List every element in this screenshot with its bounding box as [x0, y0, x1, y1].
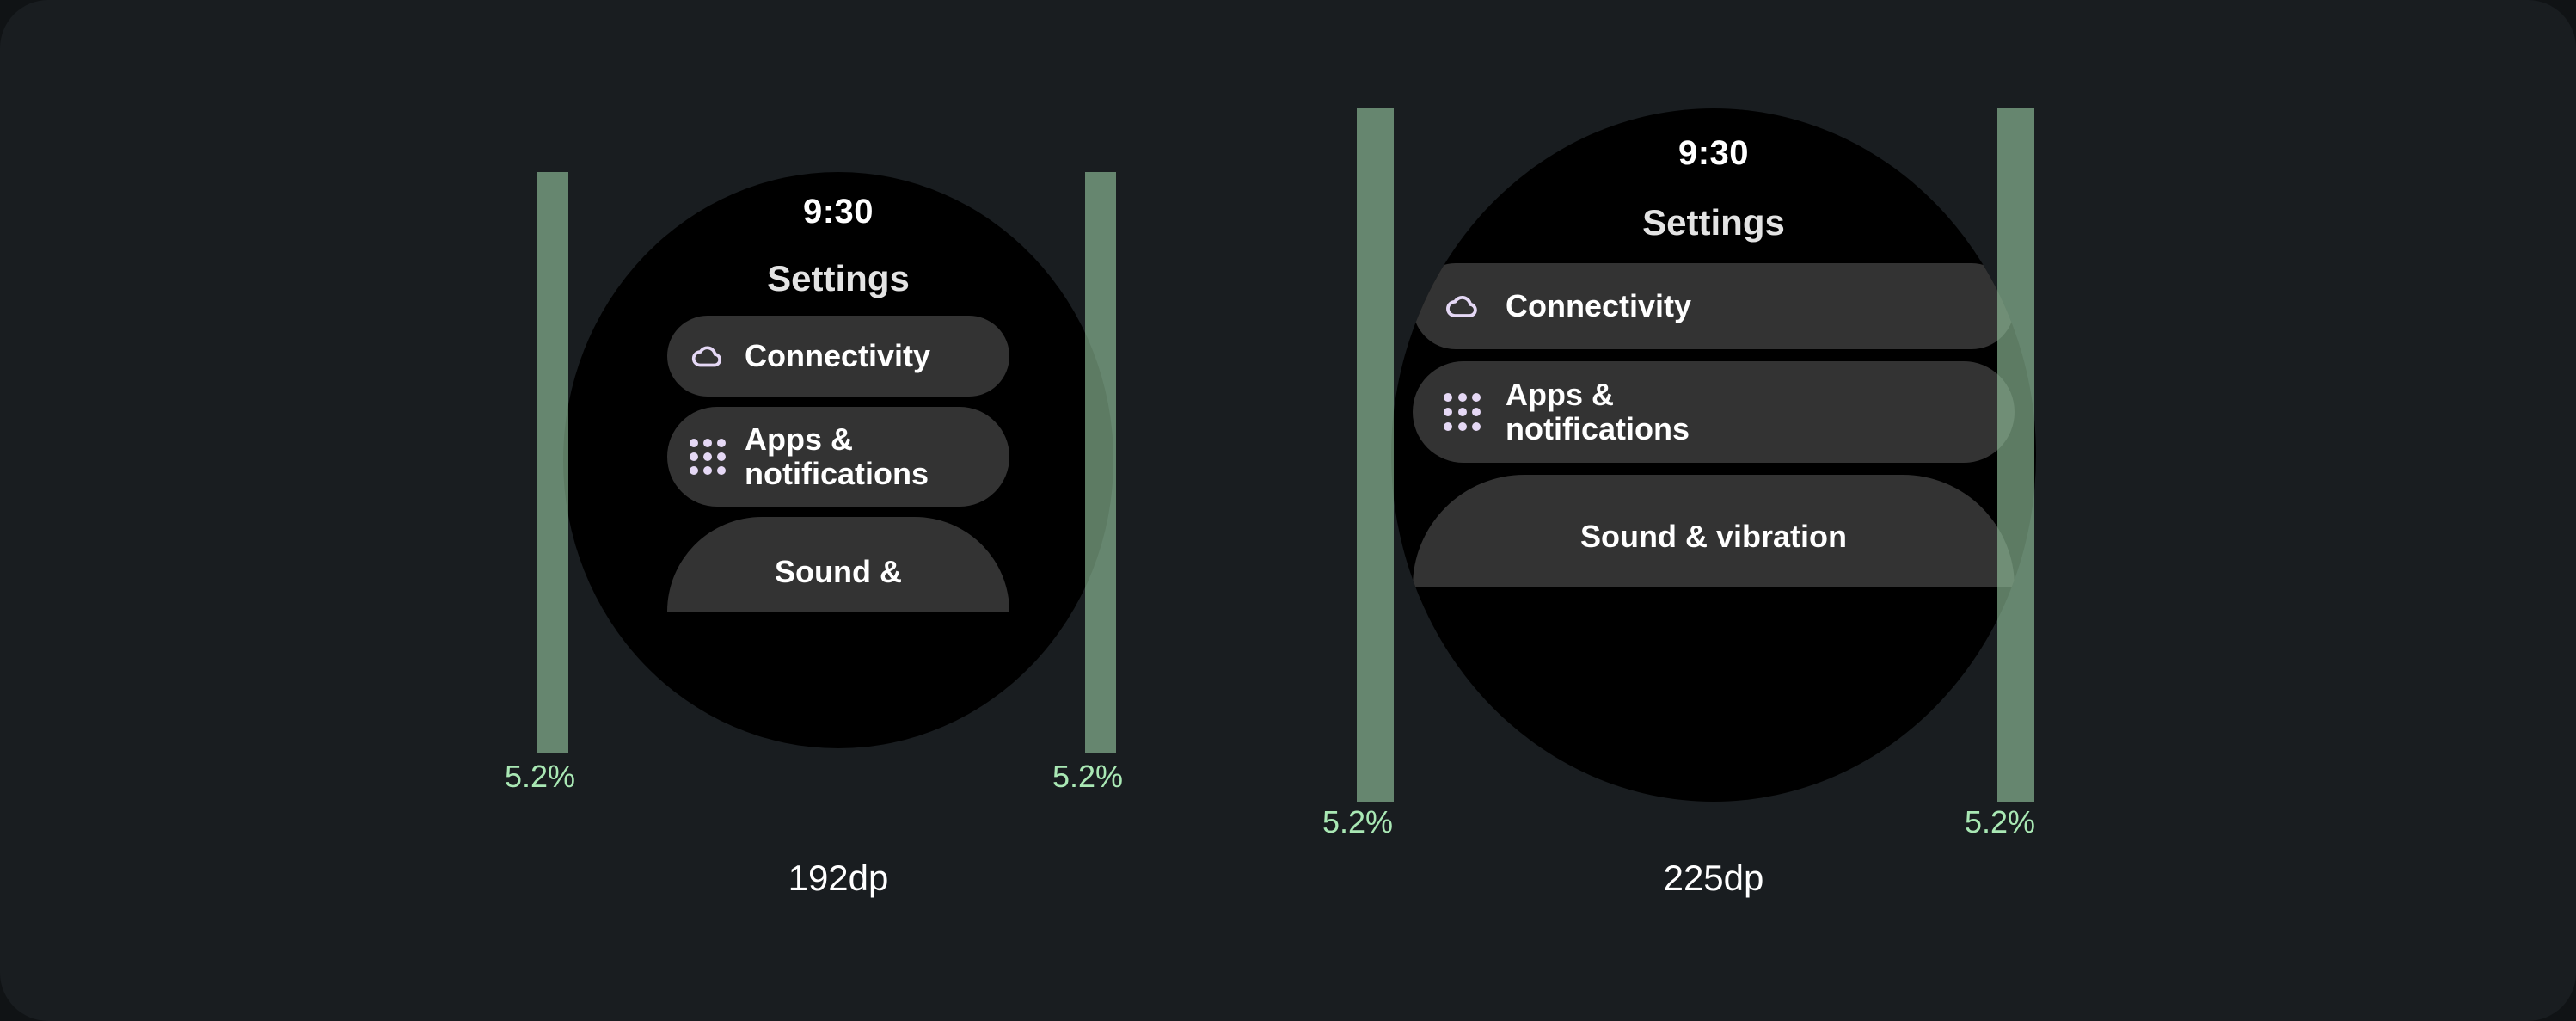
- list-item-label-225dp-2-line1: Apps &: [1506, 378, 1690, 412]
- list-item-label-192dp-3: Sound &: [775, 555, 902, 589]
- status-time-192dp: 9:30: [803, 194, 874, 229]
- size-caption-225dp: 225dp: [1542, 860, 1886, 896]
- list-item-label-192dp-2-line1: Apps &: [745, 422, 929, 457]
- margin-value-left-225dp: 5.2%: [1322, 807, 1393, 838]
- list-item-apps-notifications-225dp[interactable]: Apps & notifications: [1413, 361, 2015, 463]
- margin-value-left-192dp: 5.2%: [505, 761, 575, 792]
- list-item-label-225dp-3: Sound & vibration: [1580, 520, 1847, 554]
- size-caption-192dp: 192dp: [666, 860, 1010, 896]
- settings-list-225dp: Connectivity Apps & notifications: [1391, 263, 2036, 587]
- screen-title-192dp: Settings: [767, 261, 910, 297]
- list-item-connectivity-192dp[interactable]: Connectivity: [667, 316, 1009, 397]
- spec-canvas: 5.2% 5.2% 9:30 Settings Connec: [0, 0, 2576, 1021]
- watch-display-192dp: 9:30 Settings Connectivity: [563, 172, 1113, 748]
- apps-grid-icon: [690, 439, 726, 475]
- margin-bar-left-192dp: [537, 172, 568, 753]
- list-item-label-225dp-1: Connectivity: [1506, 289, 1691, 323]
- list-item-label-192dp-1: Connectivity: [745, 339, 930, 373]
- list-item-label-192dp-2-line2: notifications: [745, 457, 929, 491]
- list-item-label-225dp-2-line2: notifications: [1506, 412, 1690, 446]
- margin-bar-left-225dp: [1357, 108, 1394, 802]
- list-item-apps-notifications-192dp[interactable]: Apps & notifications: [667, 407, 1009, 507]
- list-item-sound-vibration-225dp[interactable]: Sound & vibration: [1413, 475, 2015, 587]
- cloud-icon: [690, 338, 726, 374]
- apps-grid-icon: [1444, 393, 1481, 431]
- margin-bar-right-225dp: [1997, 108, 2034, 802]
- margin-value-right-225dp: 5.2%: [1965, 807, 2035, 838]
- settings-list-192dp: Connectivity Apps & notifications: [563, 316, 1113, 612]
- watch-display-225dp: 9:30 Settings Connectivity: [1391, 108, 2036, 802]
- margin-value-right-192dp: 5.2%: [1052, 761, 1123, 792]
- status-time-225dp: 9:30: [1678, 136, 1749, 170]
- cloud-icon: [1444, 287, 1481, 325]
- list-item-sound-vibration-192dp[interactable]: Sound &: [667, 517, 1009, 612]
- watch-screen-192dp: 9:30 Settings Connectivity: [563, 172, 1113, 748]
- list-item-connectivity-225dp[interactable]: Connectivity: [1413, 263, 2015, 349]
- screen-title-225dp: Settings: [1642, 205, 1785, 241]
- margin-bar-right-192dp: [1085, 172, 1116, 753]
- watch-screen-225dp: 9:30 Settings Connectivity: [1391, 108, 2036, 802]
